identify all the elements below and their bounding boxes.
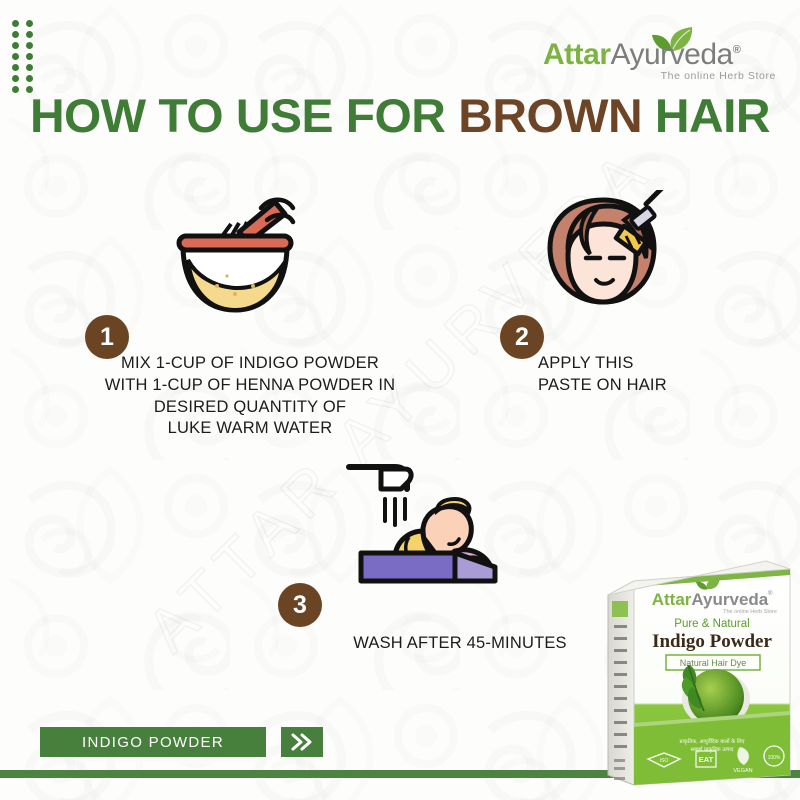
svg-text:AttarAyurveda: AttarAyurveda bbox=[652, 590, 769, 609]
dot bbox=[12, 53, 19, 60]
step-text-2: APPLY THIS PASTE ON HAIR bbox=[538, 353, 728, 397]
dot bbox=[26, 75, 33, 82]
title-highlight-brown: BROWN bbox=[458, 89, 642, 142]
svg-text:100%: 100% bbox=[768, 755, 781, 761]
svg-text:EAT: EAT bbox=[699, 755, 714, 764]
infographic-page: ATTAR AYURVEDA AttarAyurveda® The online… bbox=[0, 0, 800, 800]
svg-text:Pure & Natural: Pure & Natural bbox=[674, 618, 749, 630]
svg-text:सम्पूर्ण प्राकृतिक उत्पाद: सम्पूर्ण प्राकृतिक उत्पाद bbox=[691, 746, 734, 753]
svg-text:®: ® bbox=[768, 590, 773, 597]
title-part-3: HAIR bbox=[642, 89, 770, 142]
svg-text:Indigo Powder: Indigo Powder bbox=[652, 631, 772, 652]
dot bbox=[12, 20, 19, 27]
dot bbox=[26, 53, 33, 60]
dot bbox=[12, 31, 19, 38]
indigo-powder-button[interactable]: INDIGO POWDER bbox=[40, 727, 266, 757]
logo-attar-text: Attar bbox=[543, 38, 611, 71]
svg-text:ISO: ISO bbox=[660, 758, 669, 764]
dot-grid-decoration bbox=[12, 20, 40, 97]
step-text-3: WASH AFTER 45-MINUTES bbox=[315, 633, 605, 655]
dot bbox=[26, 31, 33, 38]
step-badge-3: 3 bbox=[278, 583, 322, 627]
brand-logo[interactable]: AttarAyurveda® The online Herb Store bbox=[543, 24, 778, 84]
dot bbox=[26, 64, 33, 71]
dot bbox=[12, 75, 19, 82]
hair-dye-application-icon bbox=[528, 190, 678, 315]
double-chevron-right-icon[interactable] bbox=[281, 727, 323, 757]
page-title: HOW TO USE FOR BROWN HAIR bbox=[0, 88, 800, 143]
registered-mark: ® bbox=[733, 44, 741, 56]
logo-wordmark: AttarAyurveda® bbox=[543, 40, 740, 70]
dot bbox=[12, 64, 19, 71]
svg-text:VEGAN: VEGAN bbox=[733, 768, 752, 774]
mixing-bowl-whisk-icon bbox=[135, 190, 335, 315]
dot bbox=[26, 42, 33, 49]
dot bbox=[26, 20, 33, 27]
logo-ayurveda-text: Ayurveda bbox=[611, 38, 733, 71]
title-part-1: HOW TO USE FOR bbox=[30, 89, 458, 142]
product-box-image[interactable]: AttarAyurveda ® The online Herb Store Pu… bbox=[600, 553, 800, 800]
svg-text:The online Herb Store: The online Herb Store bbox=[723, 609, 777, 615]
svg-text:प्राकृतिक, आयुर्वेदिक बालों के: प्राकृतिक, आयुर्वेदिक बालों के लिए bbox=[680, 738, 745, 745]
hair-wash-basin-icon bbox=[335, 455, 505, 590]
logo-tagline: The online Herb Store bbox=[661, 70, 776, 82]
step-text-1: MIX 1-CUP OF INDIGO POWDER WITH 1-CUP OF… bbox=[80, 353, 420, 440]
dot bbox=[12, 42, 19, 49]
